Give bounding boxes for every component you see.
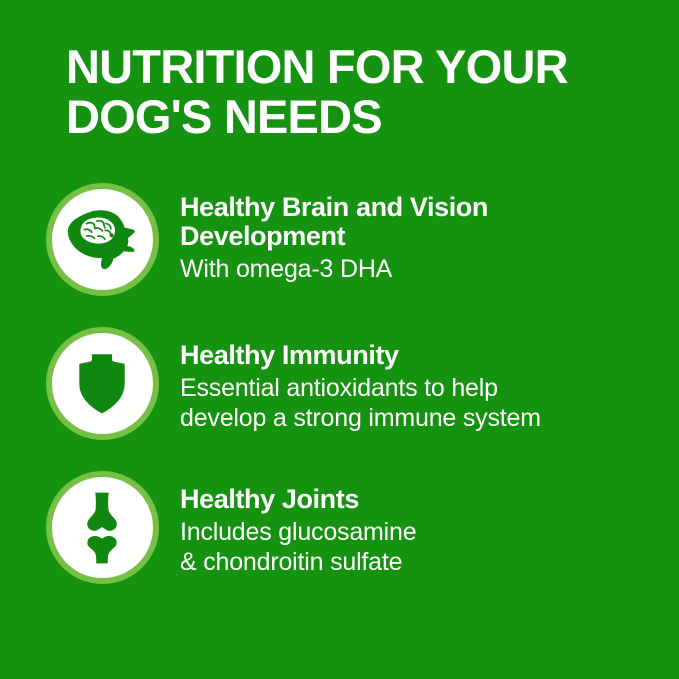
shield-icon <box>71 348 133 420</box>
benefit-text: Healthy Brain and Vision Development Wit… <box>180 183 679 284</box>
icon-badge <box>46 327 159 440</box>
icon-badge <box>46 183 159 296</box>
benefit-title: Healthy Immunity <box>180 341 631 370</box>
dog-head-brain-icon <box>66 209 138 271</box>
nutrition-benefits-poster: Nutrition for your dog's needs <box>0 0 679 679</box>
icon-badge <box>46 471 159 584</box>
benefit-subtitle: With omega-3 DHA <box>180 254 631 284</box>
page-title: Nutrition for your dog's needs <box>66 42 636 142</box>
benefit-title: Healthy Joints <box>180 485 631 514</box>
benefit-subtitle: Essential antioxidants to help develop a… <box>180 373 631 433</box>
benefit-text: Healthy Immunity Essential antioxidants … <box>180 327 679 433</box>
list-item: Healthy Joints Includes glucosamine & ch… <box>0 471 679 584</box>
badge-container <box>0 327 180 440</box>
list-item: Healthy Immunity Essential antioxidants … <box>0 327 679 440</box>
benefits-list: Healthy Brain and Vision Development Wit… <box>0 183 679 615</box>
benefit-subtitle: Includes glucosamine & chondroitin sulfa… <box>180 517 631 577</box>
list-item: Healthy Brain and Vision Development Wit… <box>0 183 679 296</box>
badge-container <box>0 183 180 296</box>
benefit-text: Healthy Joints Includes glucosamine & ch… <box>180 471 679 577</box>
benefit-title: Healthy Brain and Vision Development <box>180 193 631 251</box>
knee-joint-bone-icon <box>74 488 130 568</box>
badge-container <box>0 471 180 584</box>
